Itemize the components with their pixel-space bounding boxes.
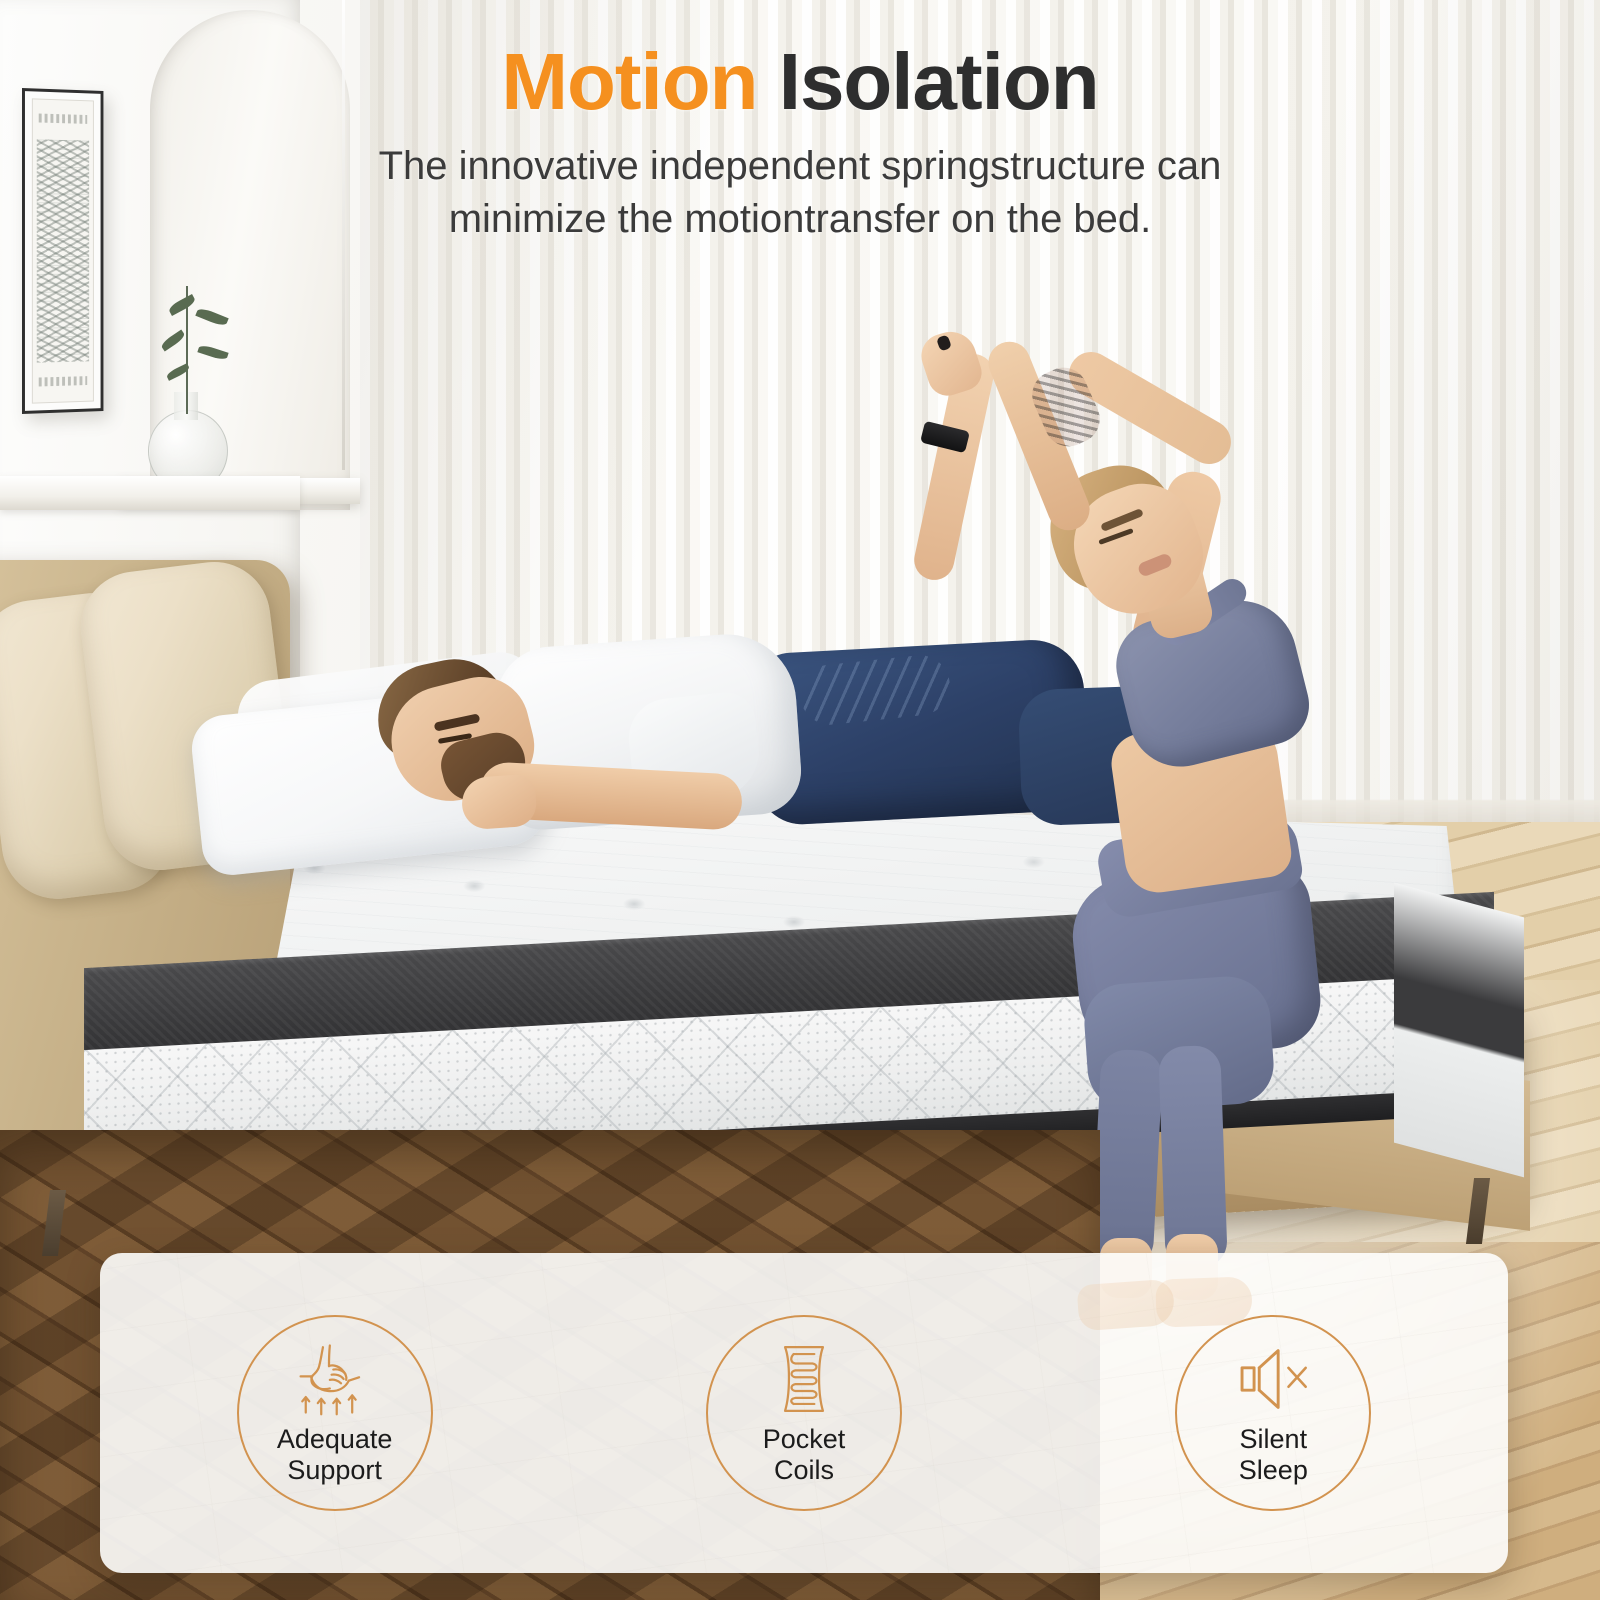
feature-pocket-coils[interactable]: Pocket Coils <box>706 1315 902 1511</box>
feature-label-line2: Support <box>287 1455 382 1485</box>
crown-molding <box>0 476 300 510</box>
pocket-coil-spring-icon <box>761 1340 847 1418</box>
feature-label-line1: Pocket <box>763 1424 846 1454</box>
feature-adequate-support[interactable]: Adequate Support <box>237 1315 433 1511</box>
feature-label-line1: Adequate <box>277 1424 393 1454</box>
mattress-right-face <box>1394 883 1524 1178</box>
product-infographic: Motion Isolation The innovative independ… <box>0 0 1600 1600</box>
muted-speaker-icon <box>1230 1340 1316 1418</box>
hand-press-support-icon <box>292 1340 378 1418</box>
header-block: Motion Isolation The innovative independ… <box>0 0 1600 246</box>
title-rest-word: Isolation <box>757 37 1098 126</box>
art-caption-bottom <box>39 376 87 386</box>
feature-silent-sleep[interactable]: Silent Sleep <box>1175 1315 1371 1511</box>
page-title: Motion Isolation <box>0 0 1600 122</box>
woman-foot-right <box>1155 1276 1253 1327</box>
feature-panel: Adequate Support Pocket Coils <box>100 1253 1508 1573</box>
title-accent-word: Motion <box>501 37 757 126</box>
man-hand <box>460 773 537 830</box>
feature-label-line2: Sleep <box>1239 1455 1308 1485</box>
subtitle-line-2: minimize the motiontransfer on the bed. <box>449 197 1152 241</box>
feature-label: Adequate Support <box>277 1424 393 1487</box>
page-subtitle: The innovative independent springstructu… <box>300 140 1300 246</box>
woman-shin-left <box>1090 1049 1163 1268</box>
feature-label: Silent Sleep <box>1239 1424 1308 1487</box>
feature-label-line1: Silent <box>1240 1424 1308 1454</box>
feature-label-line2: Coils <box>774 1455 834 1485</box>
subtitle-line-1: The innovative independent springstructu… <box>379 144 1222 188</box>
feature-label: Pocket Coils <box>763 1424 846 1487</box>
